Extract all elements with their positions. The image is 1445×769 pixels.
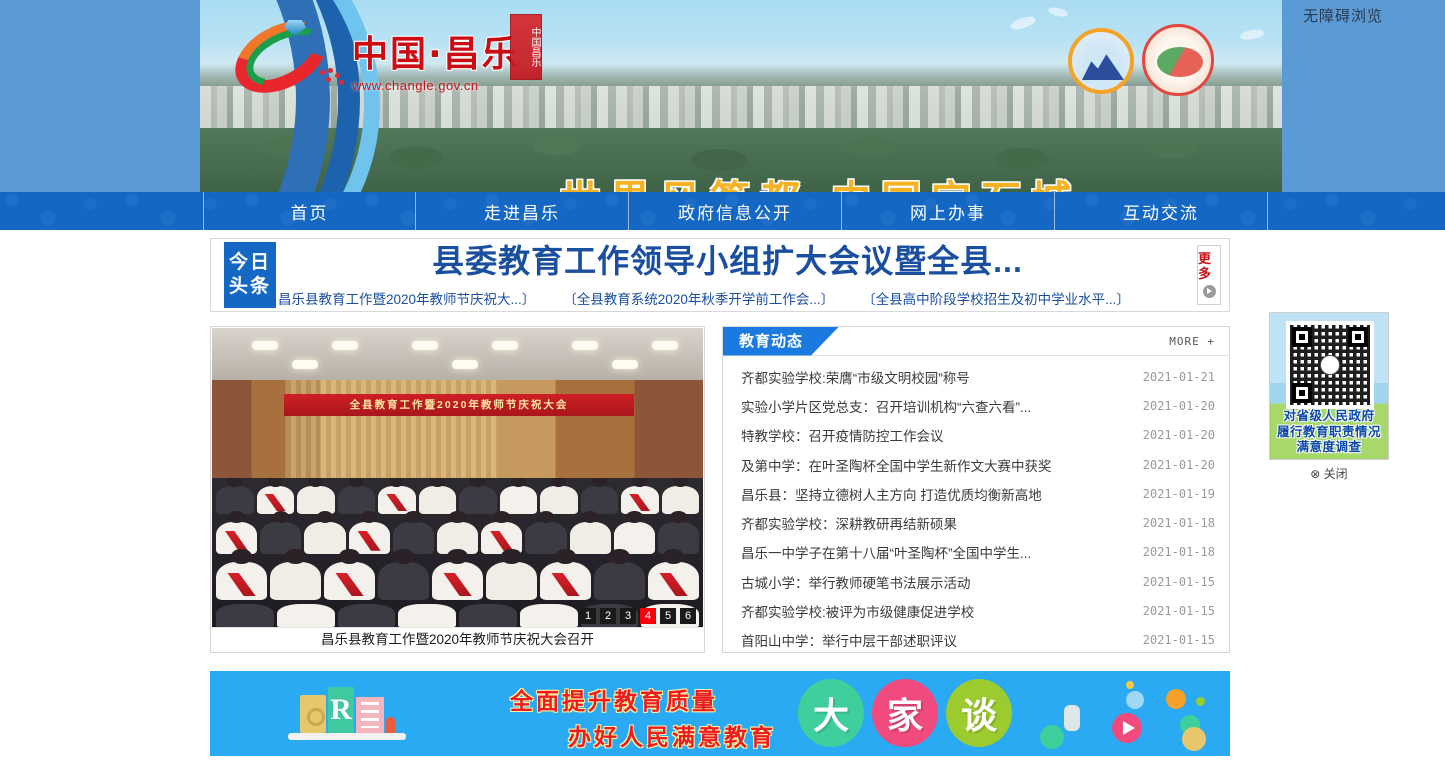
banner-slogan-line2: 办好人民满意教育 [568, 721, 776, 756]
headline-more-button[interactable]: 更多 [1197, 245, 1221, 305]
conference-banner-text: 全县教育工作暨2020年教师节庆祝大会 [284, 394, 634, 416]
news-item-title: 昌乐一中学子在第十八届“叶圣陶杯”全国中学生... [741, 542, 1143, 562]
news-panel-header: 教育动态 MORE + [723, 327, 1229, 356]
news-item-title: 齐都实验学校:荣膺“市级文明校园”称号 [741, 367, 1143, 387]
news-list-item[interactable]: 齐都实验学校:荣膺“市级文明校园”称号 2021-01-21 [741, 362, 1215, 391]
news-list-item[interactable]: 昌乐一中学子在第十八届“叶圣陶杯”全国中学生... 2021-01-18 [741, 538, 1215, 567]
audience-seats [212, 478, 703, 628]
hero-calligraphy-text: 世界风筝都 中国宝石城 [560, 168, 1081, 192]
banner-circle-2: 家 [872, 679, 938, 747]
news-item-title: 实验小学片区党总支：召开培训机构“六查六看”... [741, 396, 1143, 416]
headline-sublinks: 昌乐县教育工作暨2020年教师节庆祝大...〕 〔全县教育系统2020年秋季开学… [278, 288, 1197, 308]
carousel-page-6[interactable]: 6 [680, 608, 696, 624]
mountain-emblem-icon [1068, 28, 1134, 94]
today-badge-line2: 头条 [229, 275, 271, 299]
carousel-page-4[interactable]: 4 [640, 608, 656, 624]
headline-sublink-1[interactable]: 昌乐县教育工作暨2020年教师节庆祝大...〕 [278, 288, 535, 308]
survey-text-line1: 对省级人民政府 [1270, 409, 1388, 425]
news-item-title: 齐都实验学校:被评为市级健康促进学校 [741, 601, 1143, 621]
today-badge-line1: 今日 [229, 251, 271, 275]
news-item-title: 首阳山中学：举行中层干部述职评议 [741, 630, 1143, 650]
network-graphic-icon [1040, 679, 1210, 749]
carousel-page-3[interactable]: 3 [620, 608, 636, 624]
play-button-icon [1112, 713, 1142, 743]
news-item-date: 2021-01-19 [1143, 487, 1215, 501]
carousel-pagination[interactable]: 1 2 3 4 5 6 [580, 608, 696, 624]
carousel-slide-image[interactable]: 全县教育工作暨2020年教师节庆祝大会 [212, 328, 703, 628]
nav-item-home[interactable]: 首页 [203, 192, 416, 230]
news-item-date: 2021-01-18 [1143, 545, 1215, 559]
survey-popup-close-button[interactable]: ⊗ 关闭 [1269, 465, 1389, 482]
news-list-item[interactable]: 昌乐县：坚持立德树人主方向 打造优质均衡新高地 2021-01-19 [741, 479, 1215, 508]
news-list-item[interactable]: 首阳山中学：举行中层干部述职评议 2021-01-15 [741, 626, 1215, 655]
news-list-item[interactable]: 齐都实验学校:被评为市级健康促进学校 2021-01-15 [741, 596, 1215, 625]
school-building-icon: R [288, 685, 408, 743]
spacer [834, 288, 862, 308]
accessibility-link[interactable]: 无障碍浏览 [1303, 5, 1383, 26]
nav-item-government-info[interactable]: 政府信息公开 [629, 192, 842, 230]
carousel-page-2[interactable]: 2 [600, 608, 616, 624]
survey-text-line2: 履行教育职责情况 [1270, 425, 1388, 441]
news-list-item[interactable]: 及第中学：在叶圣陶杯全国中学生新作文大赛中获奖 2021-01-20 [741, 450, 1215, 479]
news-list: 齐都实验学校:荣膺“市级文明校园”称号 2021-01-21 实验小学片区党总支… [723, 356, 1229, 655]
headline-more-label: 更多 [1198, 252, 1220, 281]
nav-item-about-changle[interactable]: 走进昌乐 [416, 192, 629, 230]
banner-circle-1: 大 [798, 679, 864, 747]
main-navigation: 首页 走进昌乐 政府信息公开 网上办事 互动交流 [0, 192, 1445, 230]
survey-popup-text: 对省级人民政府 履行教育职责情况 满意度调查 [1270, 409, 1388, 456]
nav-item-online-services[interactable]: 网上办事 [842, 192, 1055, 230]
survey-text-line3: 满意度调查 [1270, 440, 1388, 456]
banner-circle-3: 谈 [946, 679, 1012, 747]
qr-code-image [1286, 321, 1374, 409]
news-item-date: 2021-01-20 [1143, 428, 1215, 442]
news-panel: 教育动态 MORE + 齐都实验学校:荣膺“市级文明校园”称号 2021-01-… [722, 326, 1230, 653]
news-item-date: 2021-01-20 [1143, 399, 1215, 413]
image-carousel[interactable]: 全县教育工作暨2020年教师节庆祝大会 [210, 326, 705, 653]
spacer [535, 288, 563, 308]
news-more-link[interactable]: MORE + [1169, 335, 1215, 348]
today-headline-badge: 今日 头条 [224, 242, 276, 308]
news-item-title: 及第中学：在叶圣陶杯全国中学生新作文大赛中获奖 [741, 455, 1143, 475]
nav-item-interaction[interactable]: 互动交流 [1055, 192, 1268, 230]
news-list-item[interactable]: 实验小学片区党总支：召开培训机构“六查六看”... 2021-01-20 [741, 391, 1215, 420]
news-list-item[interactable]: 齐都实验学校：深耕教研再结新硕果 2021-01-18 [741, 508, 1215, 537]
hall-ceiling [212, 328, 703, 380]
news-item-date: 2021-01-15 [1143, 633, 1215, 647]
news-item-title: 特教学校：召开疫情防控工作会议 [741, 425, 1143, 445]
tab-education-news[interactable]: 教育动态 [723, 327, 839, 356]
agriculture-emblem-icon [1142, 24, 1214, 96]
survey-qr-popup[interactable]: 对省级人民政府 履行教育职责情况 满意度调查 [1269, 312, 1389, 460]
headline-title[interactable]: 县委教育工作领导小组扩大会议暨全县... [278, 242, 1197, 280]
logo-url: www.changle.gov.cn [352, 78, 479, 93]
carousel-page-1[interactable]: 1 [580, 608, 596, 624]
main-columns: 全县教育工作暨2020年教师节庆祝大会 [210, 326, 1230, 653]
headline-block: 今日 头条 县委教育工作领导小组扩大会议暨全县... 昌乐县教育工作暨2020年… [210, 238, 1230, 312]
news-item-date: 2021-01-20 [1143, 458, 1215, 472]
promo-banner[interactable]: R 全面提升教育质量 办好人民满意教育 大 家 谈 [210, 671, 1230, 756]
news-item-title: 昌乐县：坚持立德树人主方向 打造优质均衡新高地 [741, 484, 1143, 504]
seal-stamp-icon: 中国昌乐 [510, 14, 542, 80]
logo-text: 中国·昌乐 [352, 37, 520, 73]
news-list-item[interactable]: 古城小学：举行教师硬笔书法展示活动 2021-01-15 [741, 567, 1215, 596]
news-item-title: 古城小学：举行教师硬笔书法展示活动 [741, 572, 1143, 592]
news-item-date: 2021-01-18 [1143, 516, 1215, 530]
carousel-caption[interactable]: 昌乐县教育工作暨2020年教师节庆祝大会召开 [212, 627, 703, 651]
site-header: 中国·昌乐 www.changle.gov.cn 中国昌乐 无障碍浏览 世界风筝… [0, 0, 1445, 192]
news-item-date: 2021-01-21 [1143, 370, 1215, 384]
headline-sublink-2[interactable]: 〔全县教育系统2020年秋季开学前工作会...〕 [563, 288, 834, 308]
news-list-item[interactable]: 特教学校：召开疫情防控工作会议 2021-01-20 [741, 421, 1215, 450]
banner-slogan: 全面提升教育质量 办好人民满意教育 [510, 685, 776, 756]
banner-slogan-line1: 全面提升教育质量 [510, 689, 718, 715]
banner-circle-group: 大 家 谈 [798, 679, 1012, 747]
news-item-date: 2021-01-15 [1143, 604, 1215, 618]
changle-emblem-icon [228, 18, 346, 92]
news-item-title: 齐都实验学校：深耕教研再结新硕果 [741, 513, 1143, 533]
headline-sublink-3[interactable]: 〔全县高中阶段学校招生及初中学业水平...〕 [862, 288, 1130, 308]
news-item-date: 2021-01-15 [1143, 575, 1215, 589]
arrow-right-icon [1203, 285, 1216, 298]
page-body: 今日 头条 县委教育工作领导小组扩大会议暨全县... 昌乐县教育工作暨2020年… [0, 230, 1445, 769]
carousel-page-5[interactable]: 5 [660, 608, 676, 624]
